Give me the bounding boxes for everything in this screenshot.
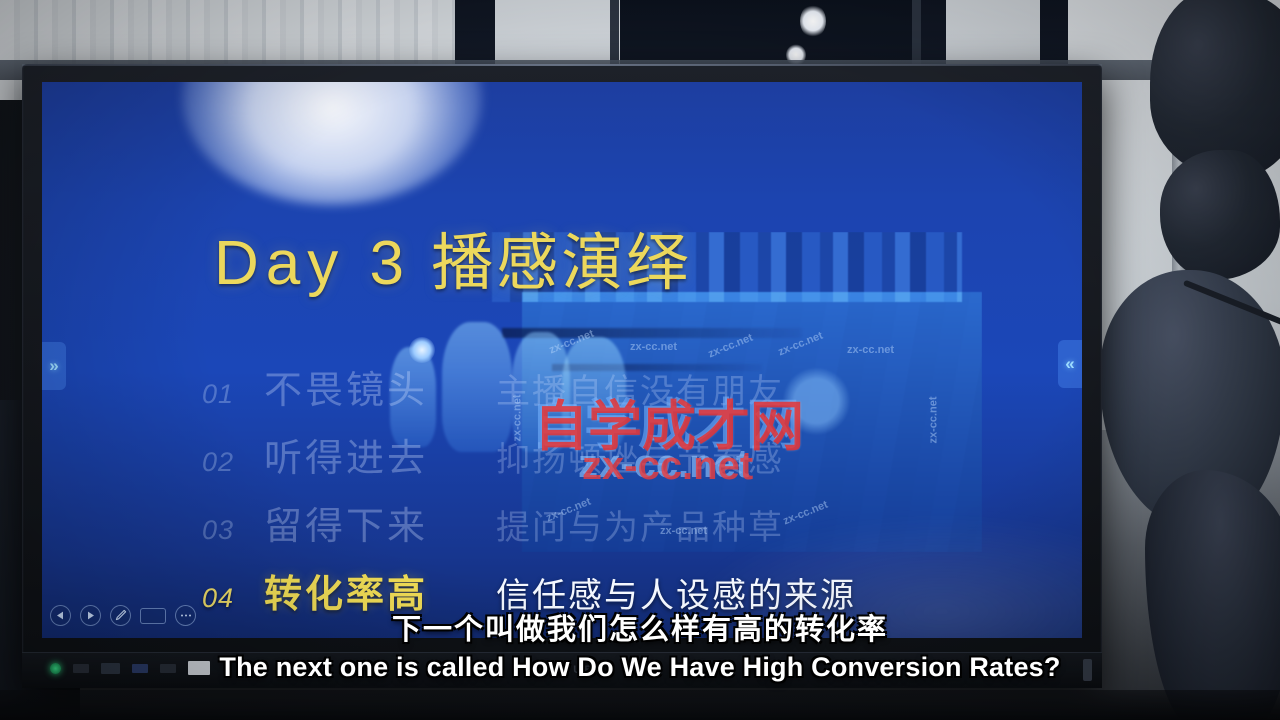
agenda-keyword-01: 不畏镜头: [264, 359, 496, 414]
agenda-number-01: 01: [202, 379, 264, 410]
expand-right-panel-handle[interactable]: «: [1058, 340, 1082, 388]
wall-display[interactable]: Day 3 播感演绎 01 不畏镜头 主播自信没有朋友 02 听得进去 抑扬顿挫…: [22, 64, 1102, 688]
agenda-desc-03: 提问与为产品种草: [496, 500, 784, 549]
slide-agenda-list: 01 不畏镜头 主播自信没有朋友 02 听得进去 抑扬顿挫与节奏感 03 留得下…: [202, 359, 1002, 631]
agenda-keyword-02: 听得进去: [264, 427, 496, 482]
presentation-slide: Day 3 播感演绎 01 不畏镜头 主播自信没有朋友 02 听得进去 抑扬顿挫…: [42, 82, 1082, 638]
ceiling-light-1: [800, 4, 826, 38]
slide-title-cjk: 播感演绎: [431, 229, 691, 298]
dark-drape-mid: [1160, 150, 1280, 280]
agenda-desc-01: 主播自信没有朋友: [496, 364, 784, 413]
slide-title: Day 3 播感演绎: [214, 212, 691, 302]
agenda-item-03[interactable]: 03 留得下来 提问与为产品种草: [202, 495, 1002, 563]
bottom-letterbox: [0, 690, 1280, 720]
chevron-right-double-icon: »: [49, 356, 58, 376]
subtitle-english: The next one is called How Do We Have Hi…: [0, 652, 1280, 683]
room-scene: Day 3 播感演绎 01 不畏镜头 主播自信没有朋友 02 听得进去 抑扬顿挫…: [0, 0, 1280, 720]
agenda-desc-02: 抑扬顿挫与节奏感: [496, 432, 784, 481]
agenda-number-02: 02: [202, 447, 264, 478]
agenda-number-03: 03: [202, 515, 264, 546]
subtitle-chinese: 下一个叫做我们怎么样有高的转化率: [0, 606, 1280, 648]
slide-title-latin: Day 3: [214, 229, 411, 298]
agenda-item-01[interactable]: 01 不畏镜头 主播自信没有朋友: [202, 359, 1002, 427]
agenda-keyword-03: 留得下来: [264, 495, 496, 550]
expand-left-panel-handle[interactable]: »: [42, 342, 66, 390]
chevron-left-double-icon: «: [1065, 354, 1074, 374]
agenda-item-02[interactable]: 02 听得进去 抑扬顿挫与节奏感: [202, 427, 1002, 495]
display-screen[interactable]: Day 3 播感演绎 01 不畏镜头 主播自信没有朋友 02 听得进去 抑扬顿挫…: [42, 82, 1082, 638]
